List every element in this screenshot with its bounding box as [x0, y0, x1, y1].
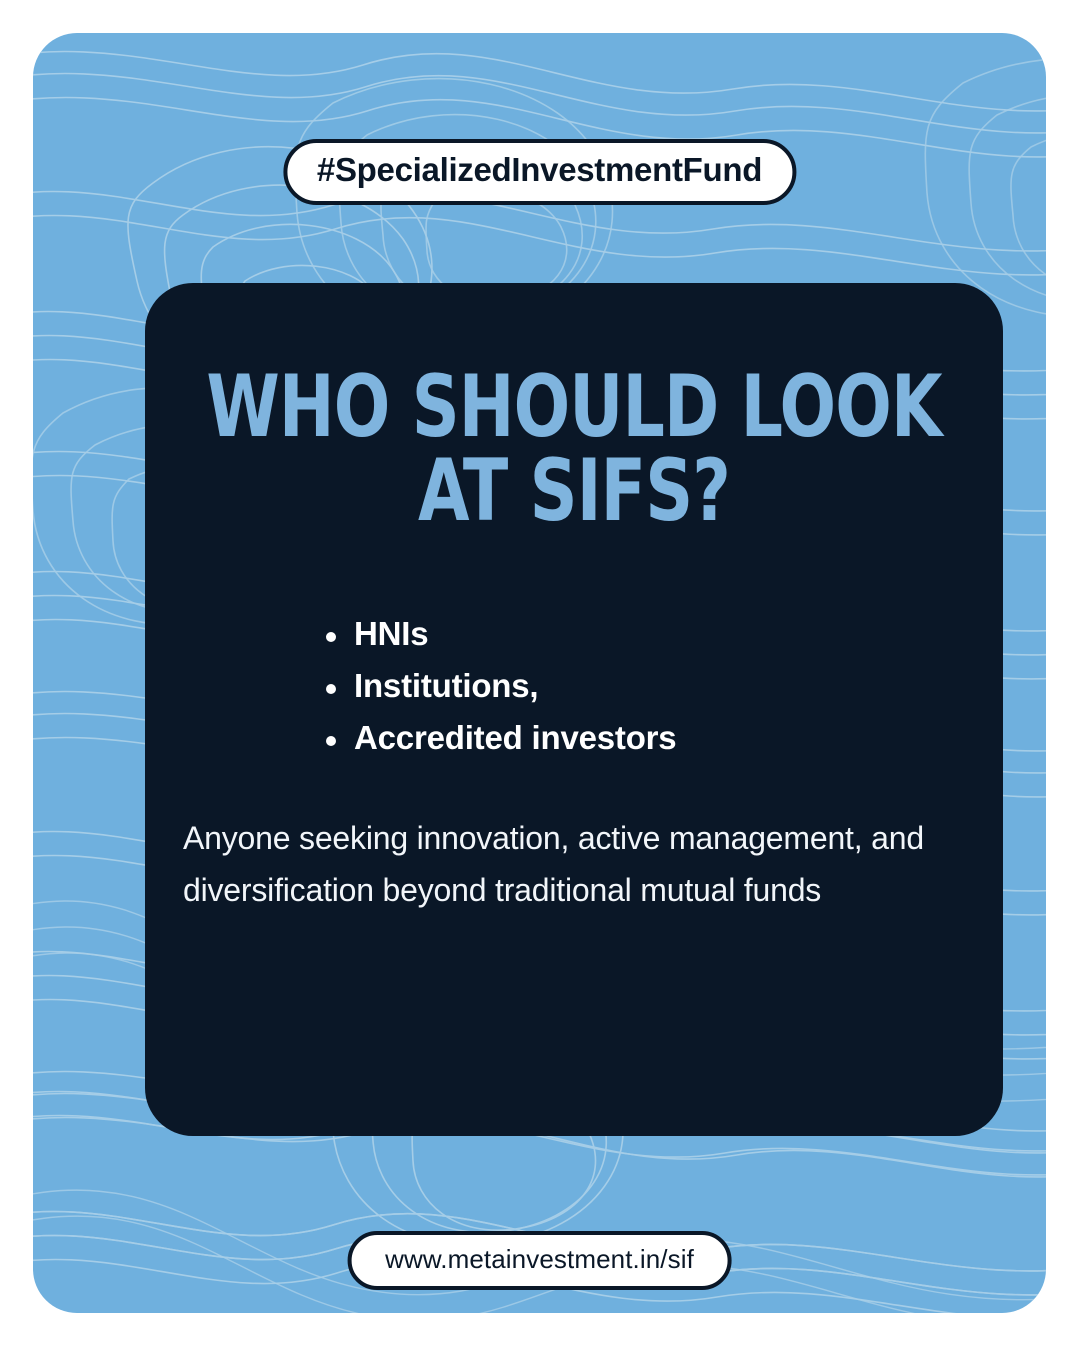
audience-list: HNIs Institutions, Accredited investors: [319, 608, 676, 764]
hashtag-pill: #SpecializedInvestmentFund: [283, 139, 796, 205]
list-item: HNIs: [319, 608, 676, 660]
blue-background-card: #SpecializedInvestmentFund WHO SHOULD LO…: [33, 33, 1046, 1313]
body-paragraph: Anyone seeking innovation, active manage…: [183, 813, 945, 917]
poster-root: #SpecializedInvestmentFund WHO SHOULD LO…: [0, 0, 1080, 1350]
list-item: Institutions,: [319, 660, 676, 712]
hashtag-label: #SpecializedInvestmentFund: [317, 151, 762, 188]
page-title-line-1: WHO SHOULD LOOK: [205, 365, 943, 449]
page-title: WHO SHOULD LOOK AT SIFS?: [205, 365, 943, 534]
page-title-line-2: AT SIFS?: [205, 449, 943, 533]
website-url-pill[interactable]: www.metainvestment.in/sif: [347, 1231, 732, 1290]
list-item: Accredited investors: [319, 712, 676, 764]
website-url-label: www.metainvestment.in/sif: [385, 1244, 694, 1274]
content-panel: WHO SHOULD LOOK AT SIFS? HNIs Institutio…: [145, 283, 1003, 1136]
